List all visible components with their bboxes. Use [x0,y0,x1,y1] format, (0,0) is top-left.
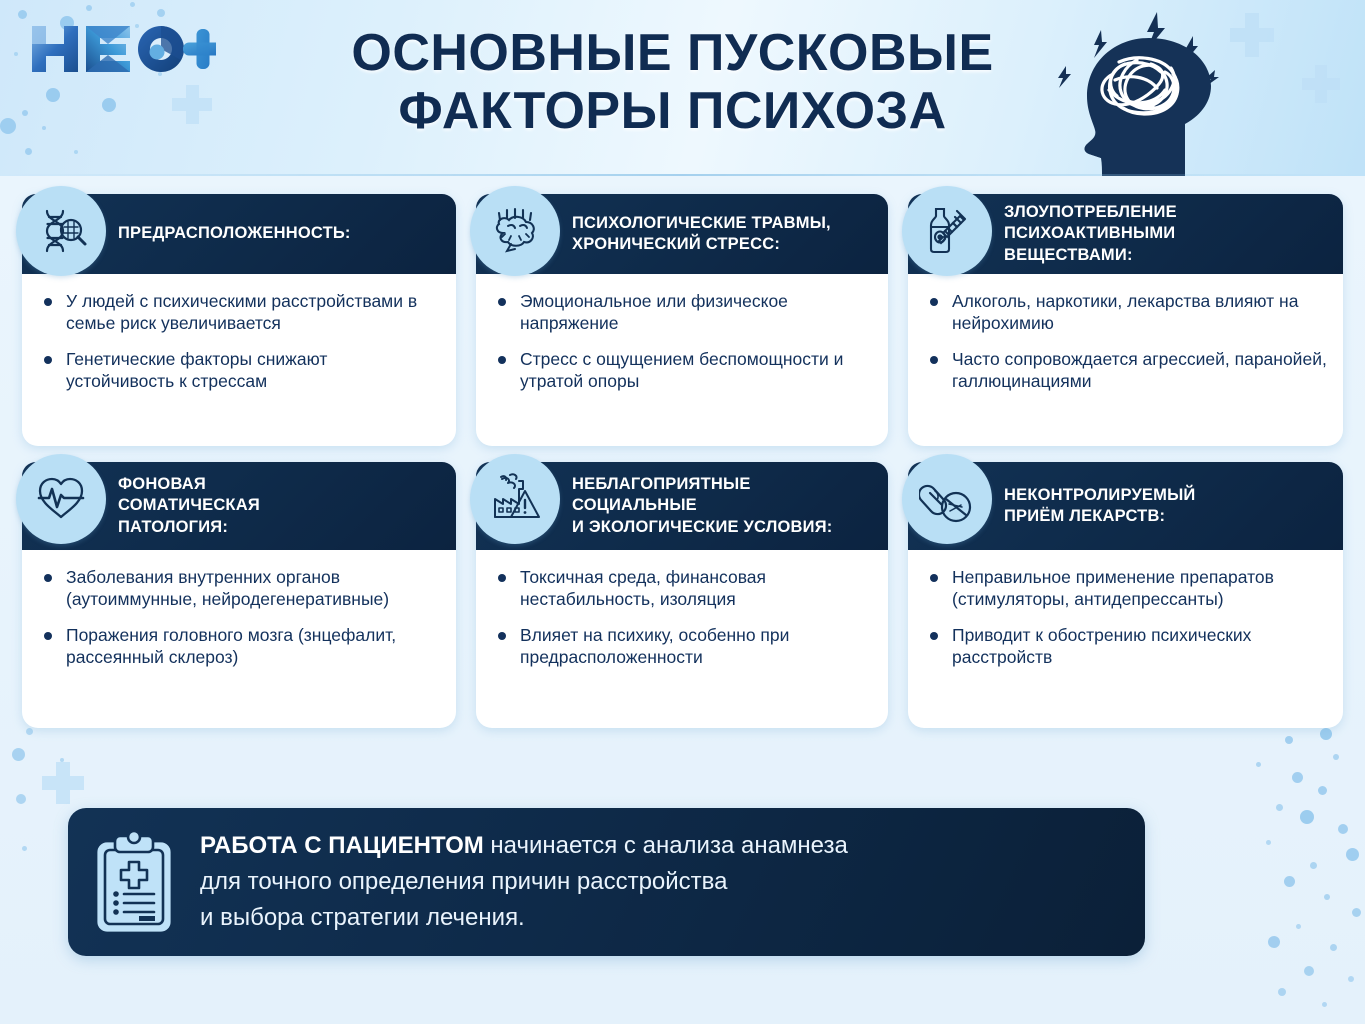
list-item: Эмоциональное или физическое напряжение [494,290,872,334]
bottle-syringe-icon [902,186,992,276]
card-bullets: Заболевания внутренних органов (аутоимму… [40,566,440,668]
card-header: ФОНОВАЯ СОМАТИЧЕСКАЯ ПАТОЛОГИЯ: [22,462,456,550]
list-item: Неправильное применение препаратов (стим… [926,566,1327,610]
content-area: ПРЕДРАСПОЛОЖЕННОСТЬ: У людей с психическ… [0,176,1365,1024]
banner-line-1: РАБОТА С ПАЦИЕНТОМ начинается с анализа … [200,828,848,864]
patient-work-banner: РАБОТА С ПАЦИЕНТОМ начинается с анализа … [68,808,1145,956]
card-header: ЗЛОУПОТРЕБЛЕНИЕ ПСИХОАКТИВНЫМИ ВЕЩЕСТВАМ… [908,194,1343,274]
card-title: ЗЛОУПОТРЕБЛЕНИЕ ПСИХОАКТИВНЫМИ ВЕЩЕСТВАМ… [1004,202,1189,265]
card-header: ПРЕДРАСПОЛОЖЕННОСТЬ: [22,194,456,274]
page-title-line1: ОСНОВНЫЕ ПУСКОВЫЕ [300,24,1045,82]
card-title: ПРЕДРАСПОЛОЖЕННОСТЬ: [118,223,363,244]
card-bullets: Алкоголь, наркотики, лекарства влияют на… [926,290,1327,392]
list-item: Поражения головного мозга (знцефалит, ра… [40,624,440,668]
factor-card-substance-abuse[interactable]: ЗЛОУПОТРЕБЛЕНИЕ ПСИХОАКТИВНЫМИ ВЕЩЕСТВАМ… [908,194,1343,446]
factor-card-uncontrolled-medication[interactable]: НЕКОНТРОЛИРУЕМЫЙ ПРИЁМ ЛЕКАРСТВ: Неправи… [908,462,1343,728]
card-body: Алкоголь, наркотики, лекарства влияют на… [908,274,1343,402]
list-item: Токсичная среда, финансовая нестабильнос… [494,566,872,610]
card-title: ПСИХОЛОГИЧЕСКИЕ ТРАВМЫ, ХРОНИЧЕСКИЙ СТРЕ… [572,213,843,255]
factor-card-trauma-stress[interactable]: ПСИХОЛОГИЧЕСКИЕ ТРАВМЫ, ХРОНИЧЕСКИЙ СТРЕ… [476,194,888,446]
list-item: Алкоголь, наркотики, лекарства влияют на… [926,290,1327,334]
list-item: Стресс с ощущением беспомощности и утрат… [494,348,872,392]
card-title: НЕБЛАГОПРИЯТНЫЕ СОЦИАЛЬНЫЕ И ЭКОЛОГИЧЕСК… [572,474,844,537]
banner-rest: начинается с анализа анамнеза [484,832,848,859]
banner-lead: РАБОТА С ПАЦИЕНТОМ [200,832,484,859]
clipboard-medical-icon [68,830,200,934]
card-header: ПСИХОЛОГИЧЕСКИЕ ТРАВМЫ, ХРОНИЧЕСКИЙ СТРЕ… [476,194,888,274]
heart-pulse-icon [16,454,106,544]
factory-warning-icon [470,454,560,544]
head-with-tangled-thoughts-icon [1053,4,1253,176]
list-item: У людей с психическими расстройствами в … [40,290,440,334]
card-bullets: У людей с психическими расстройствами в … [40,290,440,392]
factor-card-predisposition[interactable]: ПРЕДРАСПОЛОЖЕННОСТЬ: У людей с психическ… [22,194,456,446]
banner-line-3: и выбора стратегии лечения. [200,900,848,936]
banner-text: РАБОТА С ПАЦИЕНТОМ начинается с анализа … [200,828,874,936]
card-body: Токсичная среда, финансовая нестабильнос… [476,550,888,678]
card-body: Эмоциональное или физическое напряжение … [476,274,888,402]
brand-logo[interactable] [26,16,216,82]
card-header: НЕКОНТРОЛИРУЕМЫЙ ПРИЁМ ЛЕКАРСТВ: [908,462,1343,550]
card-header: НЕБЛАГОПРИЯТНЫЕ СОЦИАЛЬНЫЕ И ЭКОЛОГИЧЕСК… [476,462,888,550]
page-title-line2: ФАКТОРЫ ПСИХОЗА [300,82,1045,140]
infographic-page: ОСНОВНЫЕ ПУСКОВЫЕ ФАКТОРЫ ПСИХОЗА [0,0,1365,1024]
list-item: Генетические факторы снижают устойчивост… [40,348,440,392]
factor-cards-grid: ПРЕДРАСПОЛОЖЕННОСТЬ: У людей с психическ… [22,194,1343,728]
card-bullets: Токсичная среда, финансовая нестабильнос… [494,566,872,668]
list-item: Приводит к обострению психических расстр… [926,624,1327,668]
pills-icon [902,454,992,544]
card-bullets: Эмоциональное или физическое напряжение … [494,290,872,392]
factor-card-social-ecological[interactable]: НЕБЛАГОПРИЯТНЫЕ СОЦИАЛЬНЫЕ И ЭКОЛОГИЧЕСК… [476,462,888,728]
factor-card-somatic-pathology[interactable]: ФОНОВАЯ СОМАТИЧЕСКАЯ ПАТОЛОГИЯ: Заболева… [22,462,456,728]
card-bullets: Неправильное применение препаратов (стим… [926,566,1327,668]
stressed-brain-icon [470,186,560,276]
card-title: ФОНОВАЯ СОМАТИЧЕСКАЯ ПАТОЛОГИЯ: [118,474,272,537]
list-item: Часто сопровождается агрессией, паранойе… [926,348,1327,392]
card-body: У людей с психическими расстройствами в … [22,274,456,402]
card-title: НЕКОНТРОЛИРУЕМЫЙ ПРИЁМ ЛЕКАРСТВ: [1004,485,1207,527]
list-item: Заболевания внутренних органов (аутоимму… [40,566,440,610]
card-body: Заболевания внутренних органов (аутоимму… [22,550,456,678]
dna-magnifier-icon [16,186,106,276]
banner-line-2: для точного определения причин расстройс… [200,864,848,900]
page-title: ОСНОВНЫЕ ПУСКОВЫЕ ФАКТОРЫ ПСИХОЗА [300,24,1045,140]
list-item: Влияет на психику, особенно при предрасп… [494,624,872,668]
page-header: ОСНОВНЫЕ ПУСКОВЫЕ ФАКТОРЫ ПСИХОЗА [0,0,1365,176]
card-body: Неправильное применение препаратов (стим… [908,550,1343,678]
